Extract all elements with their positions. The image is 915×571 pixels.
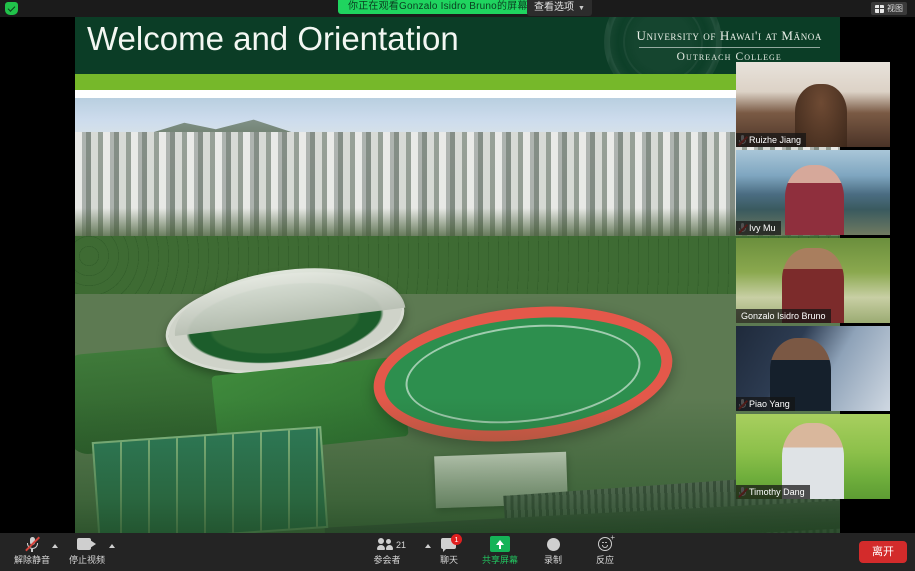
participants-icon: 21 — [377, 535, 397, 553]
chat-bubble-icon: 1 — [441, 535, 457, 553]
video-button-label: 停止视频 — [69, 555, 105, 565]
video-tile-ruizhe-jiang[interactable]: Ruizhe Jiang — [736, 62, 890, 147]
video-tile-piao-yang[interactable]: Piao Yang — [736, 326, 890, 411]
chevron-down-icon: ▼ — [578, 5, 585, 12]
photo-tree-canopy — [75, 236, 840, 294]
view-options-label: 查看选项 — [534, 2, 574, 13]
participant-name: Ivy Mu — [736, 221, 781, 235]
participant-count: 21 — [396, 540, 406, 550]
grid-view-icon — [875, 5, 884, 13]
record-button-label: 录制 — [544, 555, 562, 565]
meeting-toolbar: 解除静音 停止视频 21 参会者 1 聊天 — [0, 533, 915, 571]
shared-screen-stage[interactable]: Welcome and Orientation University of Ha… — [0, 17, 915, 533]
view-toggle-label: 视图 — [887, 2, 903, 15]
participant-name: Gonzalo Isidro Bruno — [736, 309, 831, 323]
university-name: University of Hawai'i at Mānoa — [637, 28, 822, 44]
screen-share-notice: 你正在观看Gonzalo Isidro Bruno的屏幕 — [338, 0, 538, 14]
video-menu-chevron-icon[interactable] — [109, 544, 115, 548]
video-tile-gonzalo-isidro-bruno[interactable]: Gonzalo Isidro Bruno — [736, 238, 890, 323]
view-toggle-button[interactable]: 视图 — [871, 2, 907, 15]
reactions-button[interactable]: + 反应 — [573, 535, 637, 569]
share-screen-icon — [490, 535, 510, 553]
participant-name: Piao Yang — [736, 397, 795, 411]
logo-divider — [639, 47, 820, 48]
view-options-button[interactable]: 查看选项▼ — [527, 0, 592, 16]
share-screen-button-label: 共享屏幕 — [482, 555, 518, 565]
camera-icon — [77, 535, 97, 553]
video-tile-ivy-mu[interactable]: Ivy Mu — [736, 150, 890, 235]
chat-button-label: 聊天 — [440, 555, 458, 565]
meeting-top-bar: 你正在观看Gonzalo Isidro Bruno的屏幕 查看选项▼ 视图 — [0, 0, 915, 17]
leave-meeting-button[interactable]: 离开 — [859, 541, 907, 563]
participant-name: Ruizhe Jiang — [736, 133, 806, 147]
presentation-slide: Welcome and Orientation University of Ha… — [75, 17, 840, 542]
video-tile-timothy-dang[interactable]: Timothy Dang — [736, 414, 890, 499]
record-circle-icon — [547, 535, 560, 553]
zoom-meeting-window: 你正在观看Gonzalo Isidro Bruno的屏幕 查看选项▼ 视图 We… — [0, 0, 915, 571]
slide-header: Welcome and Orientation University of Ha… — [75, 17, 840, 74]
participant-filmstrip: Ruizhe Jiang Ivy Mu Gonzalo Isidro Bruno… — [736, 62, 890, 502]
participant-name: Timothy Dang — [736, 485, 810, 499]
participants-button-label: 参会者 — [373, 555, 400, 565]
chat-unread-badge: 1 — [451, 534, 462, 545]
participants-button[interactable]: 21 参会者 — [355, 535, 419, 569]
slide-title: Welcome and Orientation — [87, 20, 459, 58]
university-logo: University of Hawai'i at Mānoa Outreach … — [637, 28, 822, 63]
smiley-reaction-icon: + — [598, 535, 612, 553]
video-button[interactable]: 停止视频 — [55, 535, 119, 569]
aerial-campus-photo — [75, 98, 840, 542]
accent-stripe — [75, 74, 840, 90]
slide-spacer — [75, 90, 840, 98]
reactions-button-label: 反应 — [596, 555, 614, 565]
encryption-shield-icon[interactable] — [5, 2, 19, 16]
photo-foreground-shade — [75, 398, 840, 542]
audio-button-label: 解除静音 — [14, 555, 50, 565]
microphone-muted-icon — [25, 535, 39, 553]
